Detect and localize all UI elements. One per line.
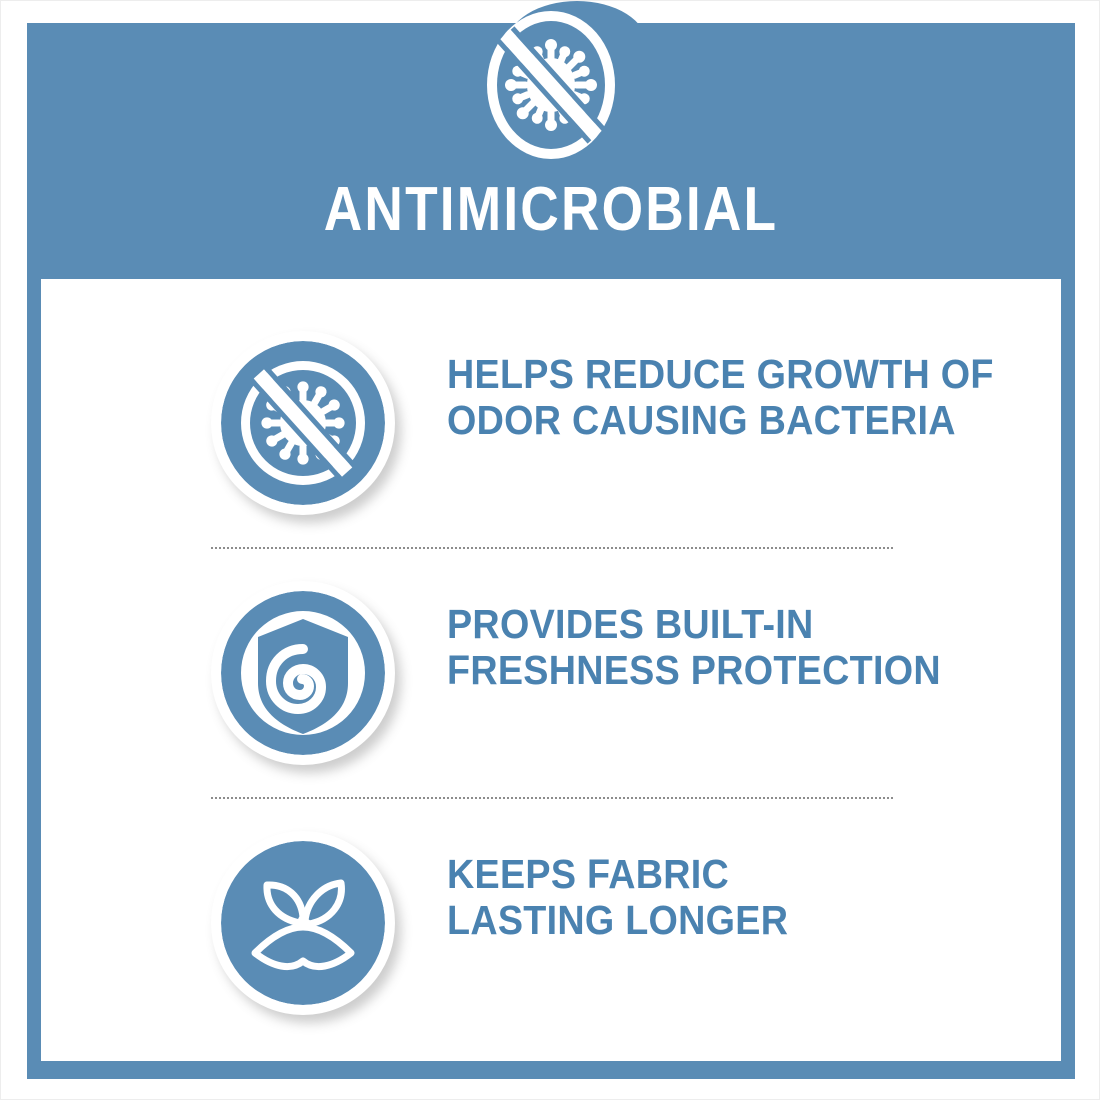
divider xyxy=(211,547,893,549)
feature-label-line: LASTING LONGER xyxy=(447,897,999,943)
leaf-sprout-icon xyxy=(221,841,385,1005)
feature-label: KEEPS FABRIC LASTING LONGER xyxy=(447,851,999,943)
feature-label-line: ODOR CAUSING BACTERIA xyxy=(447,397,999,443)
feature-label-line: HELPS REDUCE GROWTH OF xyxy=(447,351,999,397)
feature-label-line: PROVIDES BUILT-IN xyxy=(447,601,999,647)
content-card: HELPS REDUCE GROWTH OF ODOR CAUSING BACT… xyxy=(41,279,1061,1061)
feature-icon-2 xyxy=(211,581,395,765)
feature-icon-1 xyxy=(211,331,395,515)
divider xyxy=(211,797,893,799)
feature-label: HELPS REDUCE GROWTH OF ODOR CAUSING BACT… xyxy=(447,351,999,443)
frame-top-dome xyxy=(507,1,647,45)
feature-icon-3 xyxy=(211,831,395,1015)
feature-label-line: KEEPS FABRIC xyxy=(447,851,999,897)
infographic-page: ANTIMICROBIAL xyxy=(0,0,1100,1100)
feature-row: PROVIDES BUILT-IN FRESHNESS PROTECTION xyxy=(41,581,1061,781)
no-virus-icon xyxy=(221,341,385,505)
feature-row: HELPS REDUCE GROWTH OF ODOR CAUSING BACT… xyxy=(41,331,1061,531)
feature-row: KEEPS FABRIC LASTING LONGER xyxy=(41,831,1061,1031)
feature-label: PROVIDES BUILT-IN FRESHNESS PROTECTION xyxy=(447,601,999,693)
shield-swirl-icon xyxy=(221,591,385,755)
feature-label-line: FRESHNESS PROTECTION xyxy=(447,647,999,693)
